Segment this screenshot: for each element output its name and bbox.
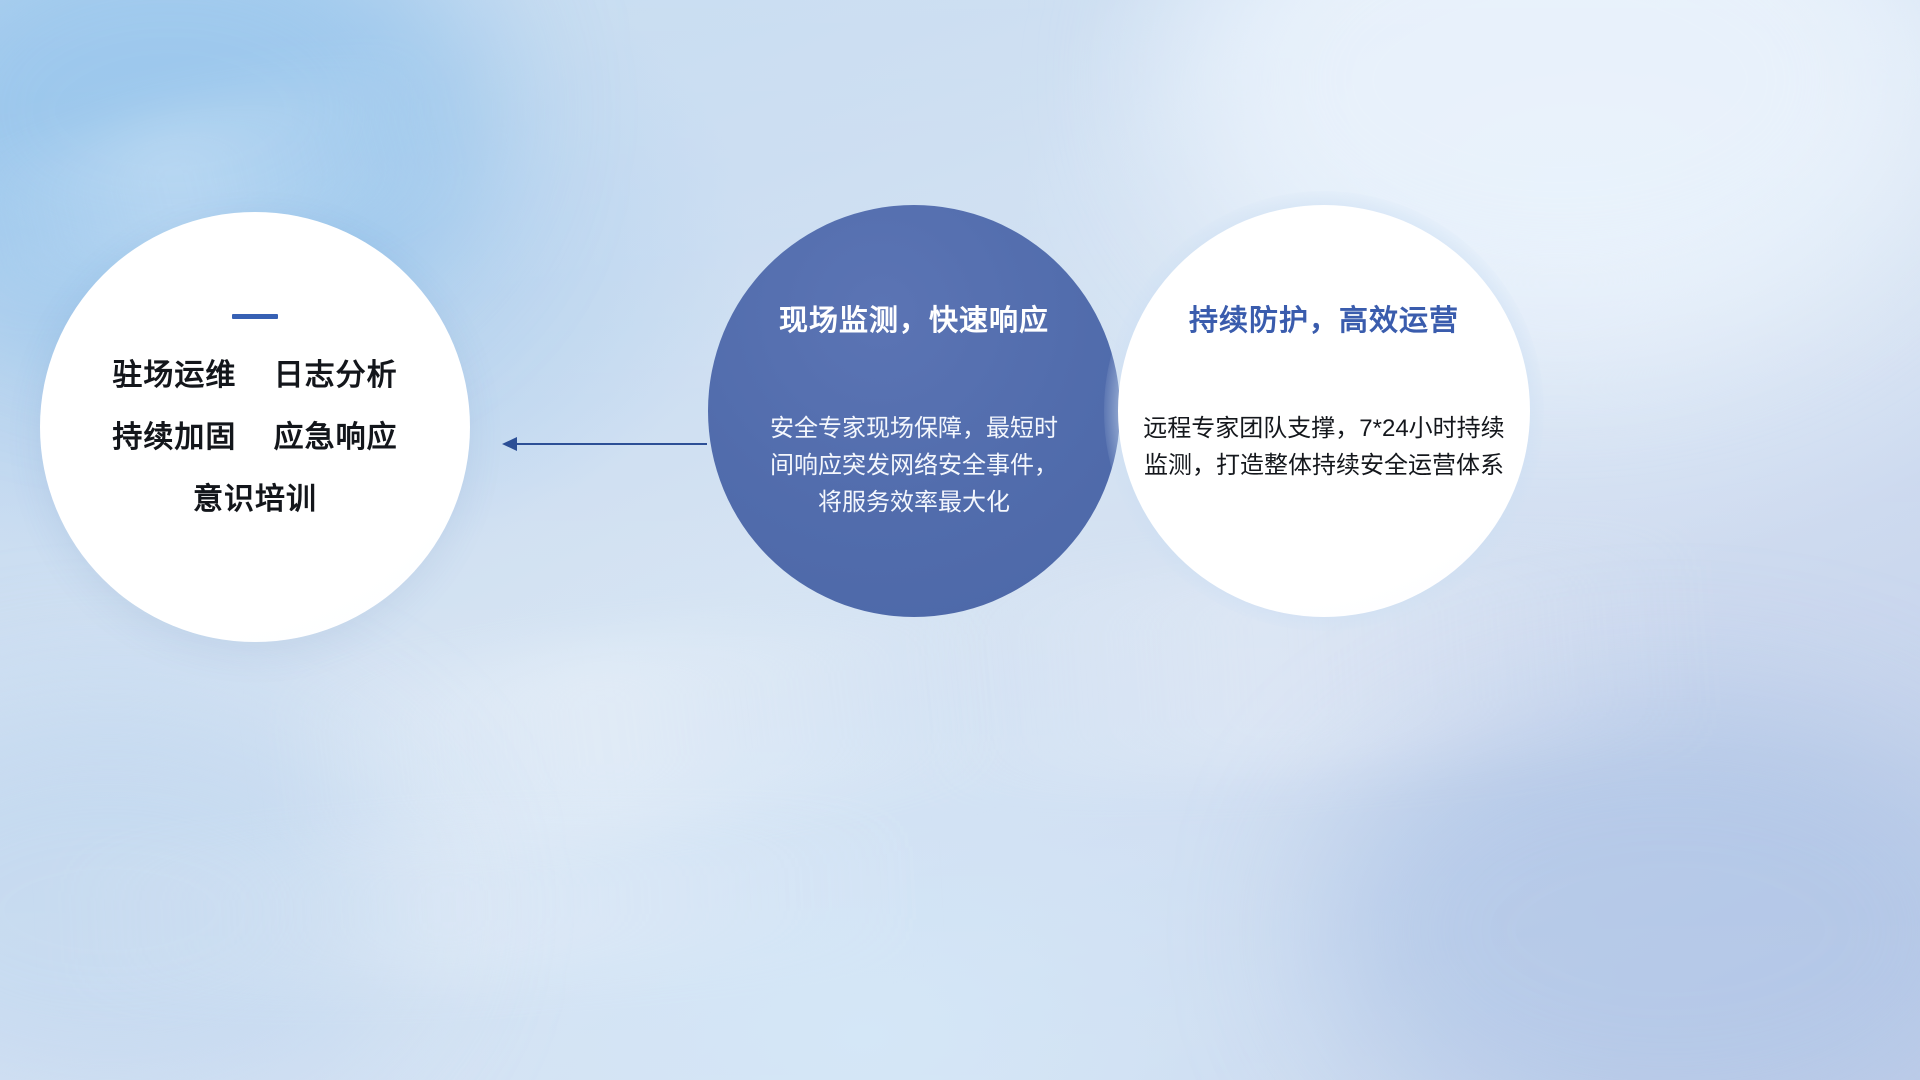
capability-line-3: 意识培训 [40, 485, 470, 515]
arrow-left-icon [502, 437, 707, 451]
capability-circle-left[interactable]: 驻场运维 日志分析 持续加固 应急响应 意识培训 [40, 212, 470, 642]
capability-list: 驻场运维 日志分析 持续加固 应急响应 意识培训 [40, 314, 470, 515]
arrow-shaft [514, 443, 707, 445]
onsite-description: 安全专家现场保障，最短时间响应突发网络安全事件，将服务效率最大化 [760, 410, 1068, 522]
remote-description: 远程专家团队支撑，7*24小时持续监测，打造整体持续安全运营体系 [1142, 410, 1506, 484]
slide-canvas: 驻场运维 日志分析 持续加固 应急响应 意识培训 现场监测，快速响应 安全专家现… [0, 0, 1920, 1080]
capability-line-1: 驻场运维 日志分析 [40, 361, 470, 391]
capability-line-2: 持续加固 应急响应 [40, 423, 470, 453]
onsite-title: 现场监测，快速响应 [708, 297, 1120, 339]
service-circle-remote[interactable]: 持续防护，高效运营 远程专家团队支撑，7*24小时持续监测，打造整体持续安全运营… [1118, 205, 1530, 617]
divider-dash-icon [232, 314, 278, 319]
remote-title: 持续防护，高效运营 [1118, 297, 1530, 339]
service-circle-onsite[interactable]: 现场监测，快速响应 安全专家现场保障，最短时间响应突发网络安全事件，将服务效率最… [708, 205, 1120, 617]
